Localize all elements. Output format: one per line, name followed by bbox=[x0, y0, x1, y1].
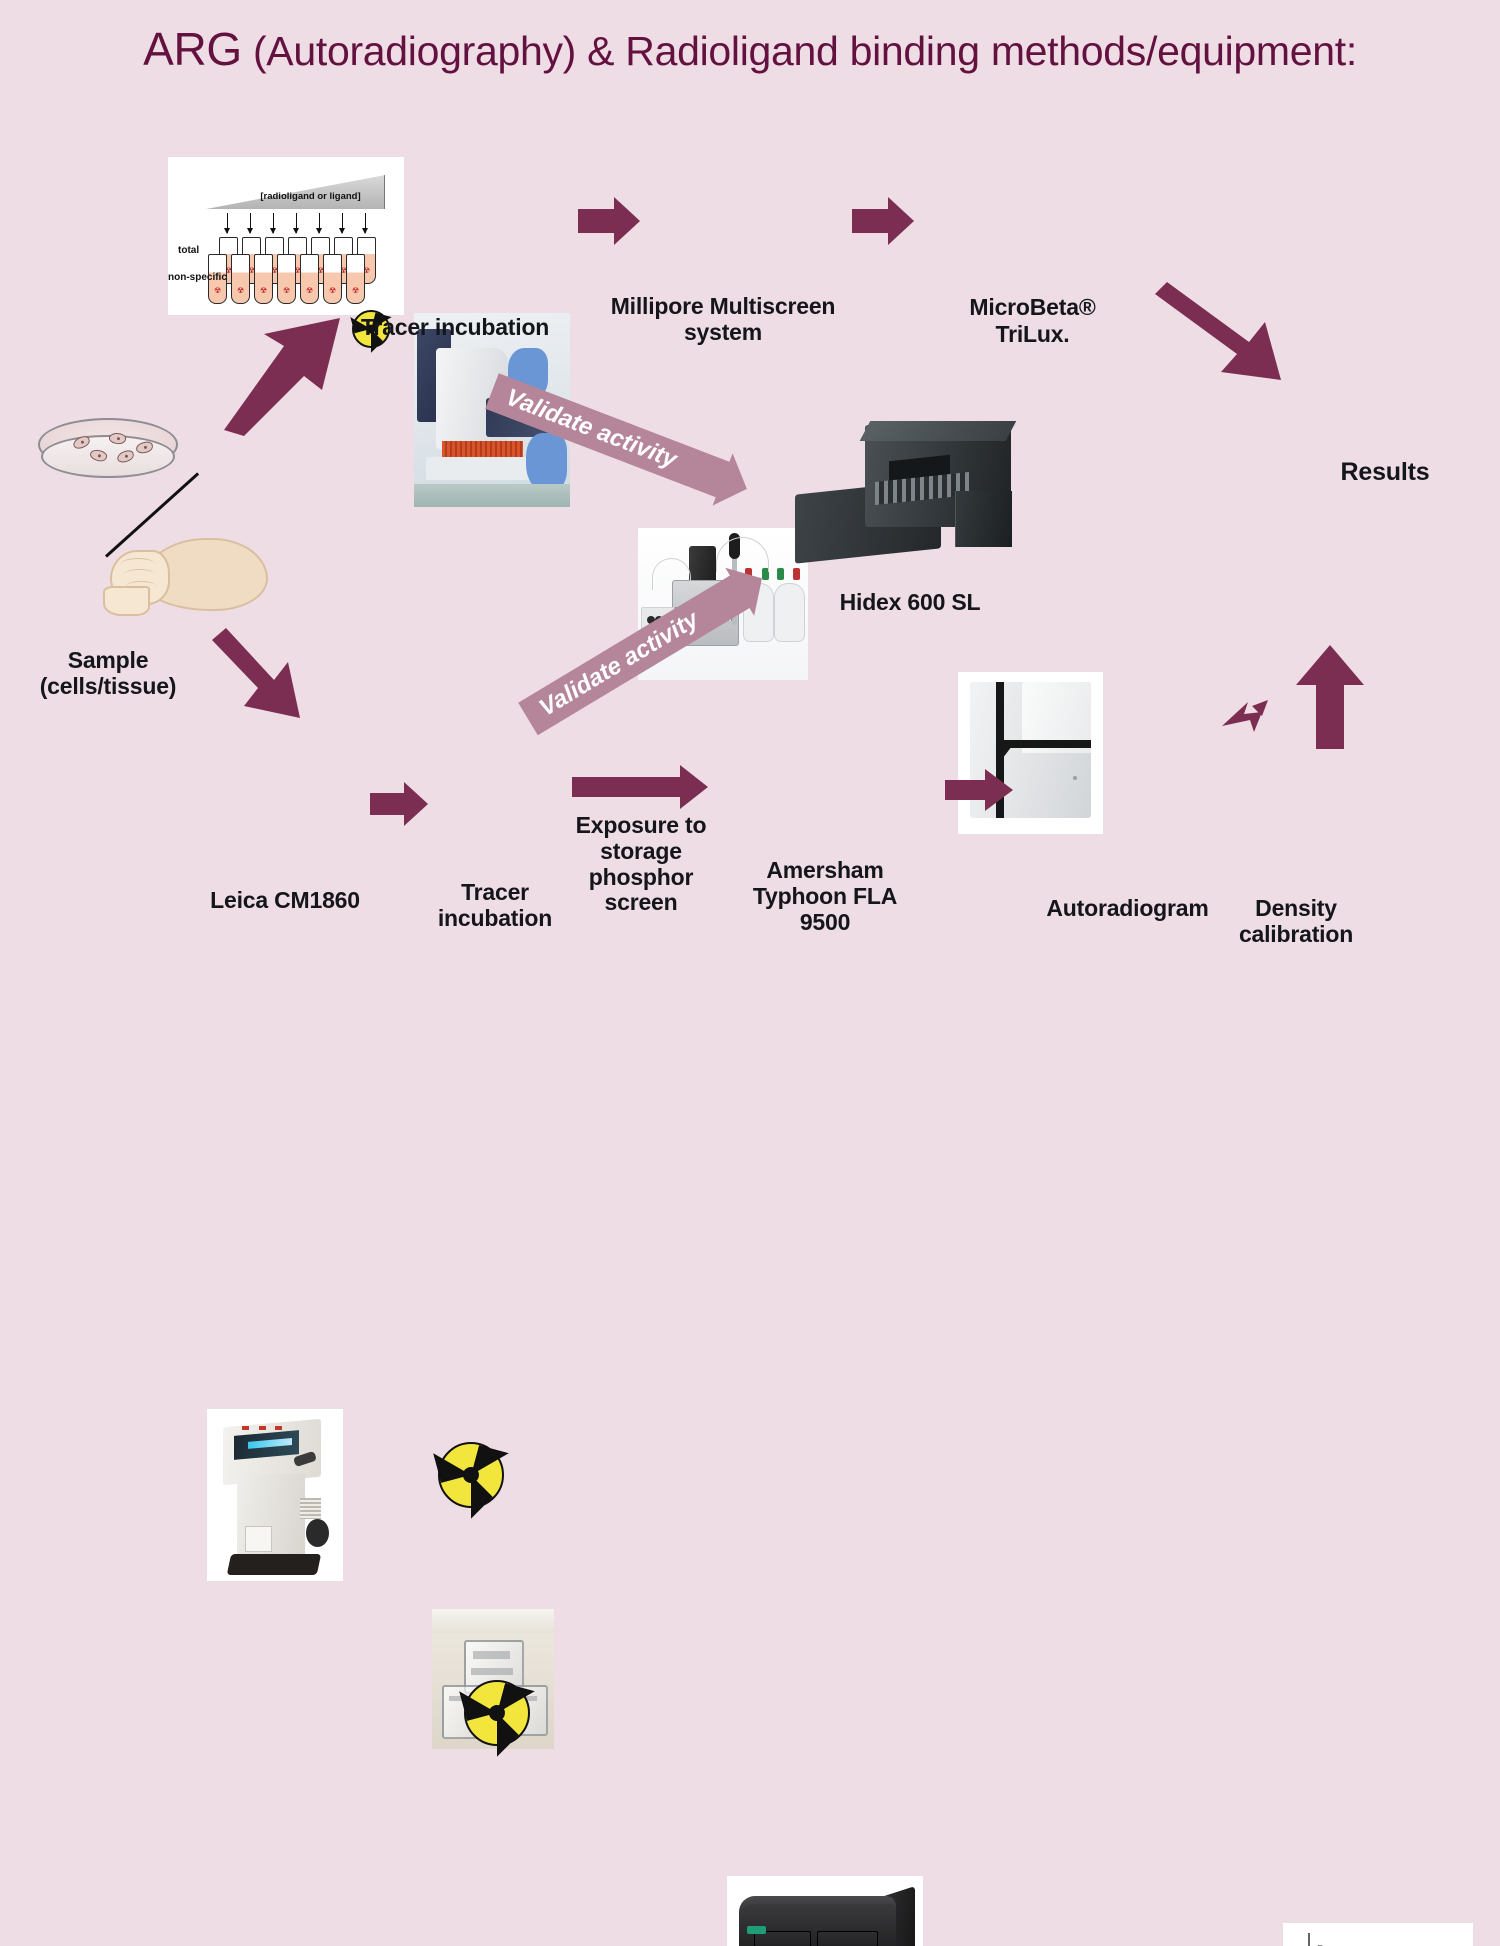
ligand-gradient-label: [radioligand or ligand] bbox=[228, 191, 393, 202]
page-title-acronym: ARG bbox=[143, 23, 242, 75]
sample-label: Sample (cells/tissue) bbox=[0, 648, 216, 700]
exposure-line3: phosphor bbox=[555, 865, 727, 891]
tube-nonspecific: ☢ bbox=[300, 254, 319, 304]
typhoon-line3: 9500 bbox=[725, 910, 925, 936]
arrow-sample-to-schematic bbox=[212, 312, 352, 436]
typhoon-line1: Amersham bbox=[725, 858, 925, 884]
sample-label-line2: (cells/tissue) bbox=[0, 674, 216, 700]
density-line1: Density bbox=[1216, 896, 1376, 922]
amersham-typhoon-image bbox=[727, 1876, 923, 1946]
exposure-line1: Exposure to bbox=[555, 813, 727, 839]
results-label: Results bbox=[1290, 458, 1480, 486]
millipore-label-text: Millipore Multiscreen system bbox=[611, 293, 836, 345]
exposure-line2: storage bbox=[555, 839, 727, 865]
millipore-multiscreen-label: Millipore Multiscreen system bbox=[598, 294, 848, 346]
petri-dish-illustration bbox=[38, 418, 174, 482]
leica-cm1860-label: Leica CM1860 bbox=[170, 888, 400, 914]
exposure-to-phosphor-label: Exposure to storage phosphor screen bbox=[555, 813, 727, 916]
density-calibration-label: Density calibration bbox=[1216, 896, 1376, 948]
radiation-trefoil-icon bbox=[438, 1442, 504, 1508]
diagram-canvas: ARG (Autoradiography) & Radioligand bind… bbox=[0, 0, 1500, 973]
tube-nonspecific: ☢ bbox=[346, 254, 365, 304]
arrow-density-to-results bbox=[1294, 645, 1366, 755]
autoradiogram-label: Autoradiogram bbox=[1010, 896, 1245, 922]
page-title: ARG (Autoradiography) & Radioligand bind… bbox=[0, 22, 1500, 76]
tube-nonspecific: ☢ bbox=[254, 254, 273, 304]
radiation-trefoil-icon bbox=[464, 1680, 530, 1746]
arrow-jars-to-typhoon bbox=[572, 765, 710, 813]
sample-label-line1: Sample bbox=[0, 648, 216, 674]
brain-illustration bbox=[100, 535, 264, 617]
svg-text:B: B bbox=[1317, 1944, 1324, 1946]
saturation-binding-chart: B max bbox=[1283, 1923, 1473, 1946]
typhoon-line2: Typhoon FLA bbox=[725, 884, 925, 910]
tube-nonspecific: ☢ bbox=[277, 254, 296, 304]
exposure-line4: screen bbox=[555, 890, 727, 916]
arrow-sample-to-leica bbox=[212, 622, 322, 722]
arrow-microbeta-to-results bbox=[1145, 280, 1295, 385]
page-title-rest: (Autoradiography) & Radioligand binding … bbox=[242, 28, 1357, 74]
hidex-600sl-image bbox=[790, 418, 1025, 583]
arrow-schematic-to-millipore bbox=[578, 195, 642, 249]
amersham-typhoon-label: Amersham Typhoon FLA 9500 bbox=[725, 858, 925, 935]
arrow-leica-to-jars bbox=[370, 780, 430, 830]
microbeta-trilux-label: MicroBeta® TriLux. bbox=[930, 294, 1135, 348]
arrow-typhoon-to-autoradiogram bbox=[945, 768, 1015, 814]
label-total: total bbox=[178, 245, 199, 256]
leica-cm1860-image bbox=[207, 1409, 343, 1581]
label-nonspecific: non-specific bbox=[168, 272, 227, 283]
tube-nonspecific: ☢ bbox=[231, 254, 250, 304]
arrow-autoradiogram-to-density bbox=[1222, 700, 1278, 748]
hidex-600sl-label: Hidex 600 SL bbox=[770, 590, 1050, 616]
tube-nonspecific: ☢ bbox=[323, 254, 342, 304]
radioligand-schematic-panel: [radioligand or ligand] ☢ ☢ ☢ ☢ ☢ ☢ ☢ ☢ … bbox=[168, 157, 404, 315]
density-line2: calibration bbox=[1216, 922, 1376, 948]
arrow-millipore-to-microbeta bbox=[852, 195, 916, 249]
